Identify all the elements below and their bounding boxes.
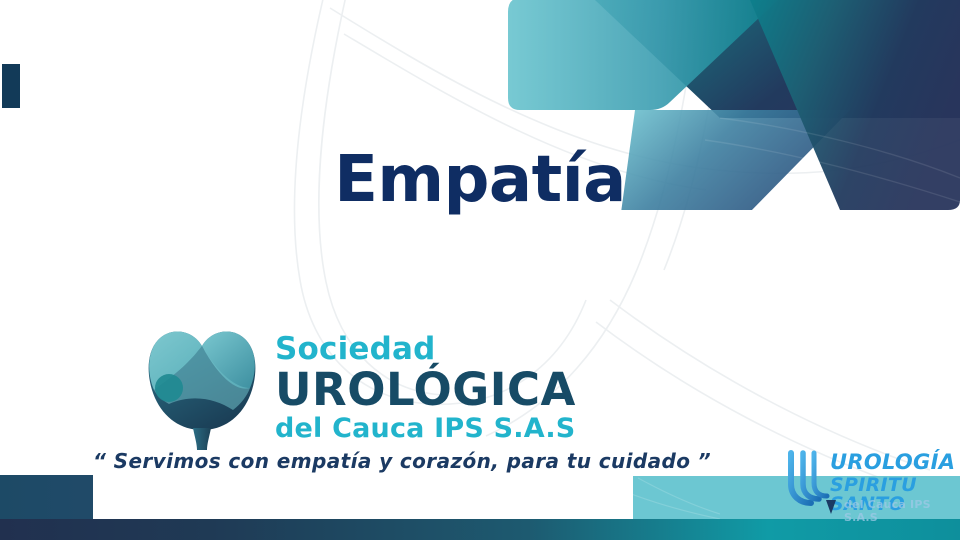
accent-tab-left xyxy=(2,64,20,108)
primary-logo-text: Sociedad UROLÓGICA del Cauca IPS S.A.S xyxy=(275,334,576,442)
secondary-logo-line-urologia: UROLOGÍA xyxy=(830,452,956,473)
secondary-logo: UROLOGÍA SPIRITU SANTO del Cauca IPS S.A… xyxy=(784,448,956,520)
page-title: Empatía xyxy=(0,148,960,212)
slide-canvas: Empatía xyxy=(0,0,960,540)
primary-logo: Sociedad UROLÓGICA del Cauca IPS S.A.S xyxy=(143,324,576,452)
marker-pin-icon xyxy=(824,498,838,516)
logo-line-urologica: UROLÓGICA xyxy=(275,367,576,412)
logo-line-cauca: del Cauca IPS S.A.S xyxy=(275,415,576,442)
tagline-text: “ Servimos con empatía y corazón, para t… xyxy=(93,449,633,473)
secondary-logo-ghost-line: del Cauca IPS S.A.S xyxy=(844,498,956,524)
logo-line-sociedad: Sociedad xyxy=(275,334,576,365)
bladder-organ-icon xyxy=(143,324,261,452)
bottom-gradient-strip xyxy=(0,519,960,540)
